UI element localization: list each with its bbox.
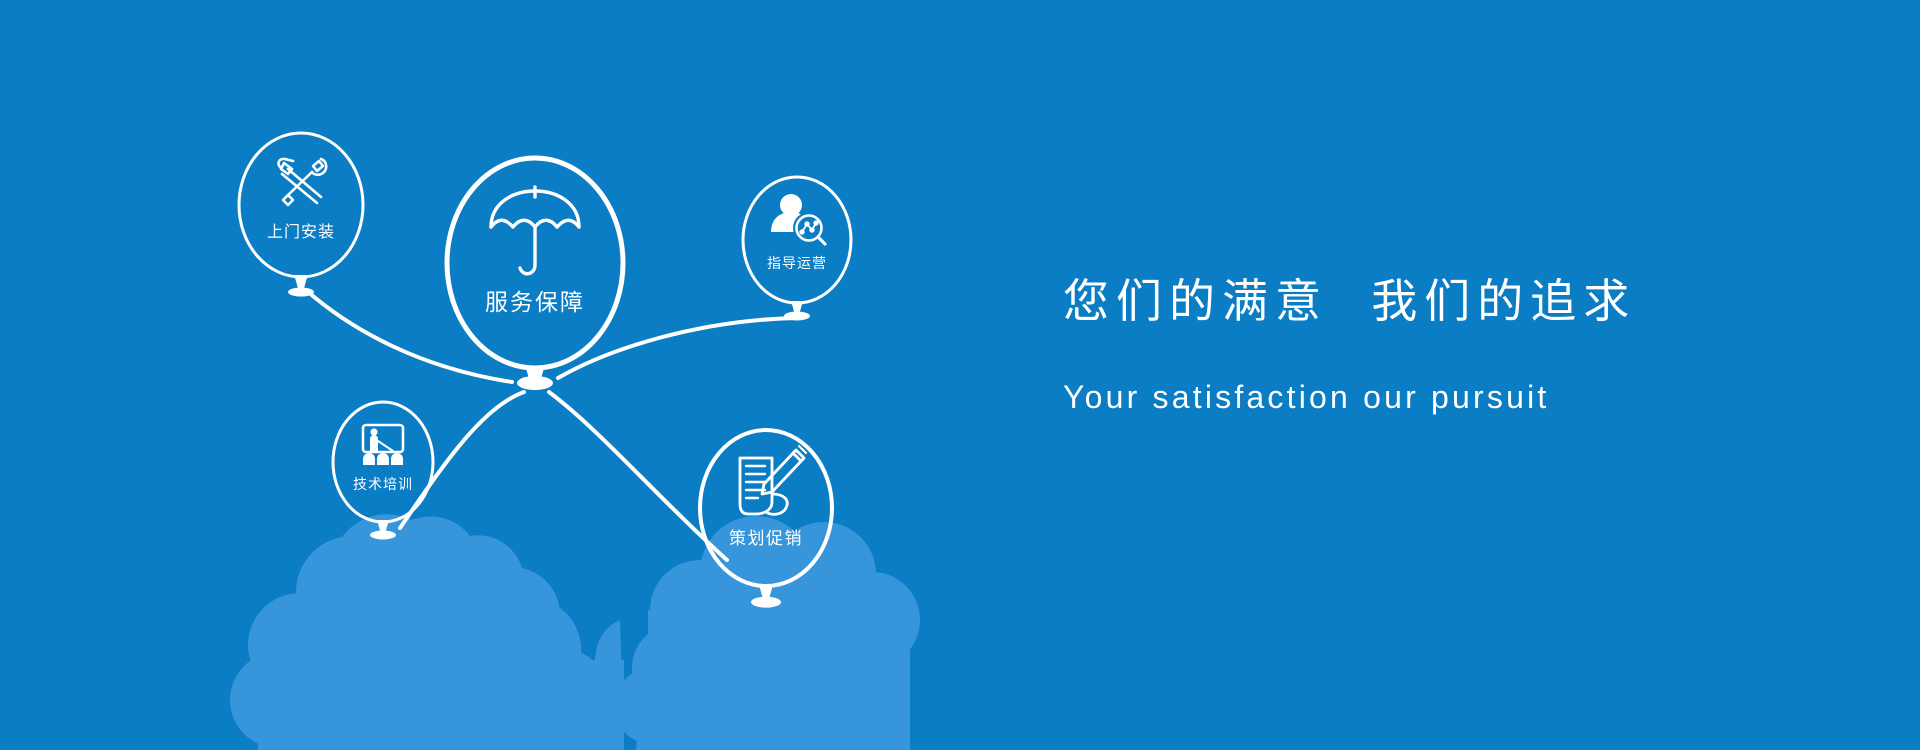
service-banner: 上门安装 服务保障 — [0, 0, 1920, 750]
slogan-layer: 您们的满意 我们的追求 Your satisfaction our pursui… — [0, 0, 1920, 750]
slogan-block: 您们的满意 我们的追求 Your satisfaction our pursui… — [1063, 275, 1823, 415]
slogan-chinese: 您们的满意 我们的追求 — [1063, 275, 1823, 328]
slogan-english: Your satisfaction our pursuit — [1063, 380, 1823, 415]
